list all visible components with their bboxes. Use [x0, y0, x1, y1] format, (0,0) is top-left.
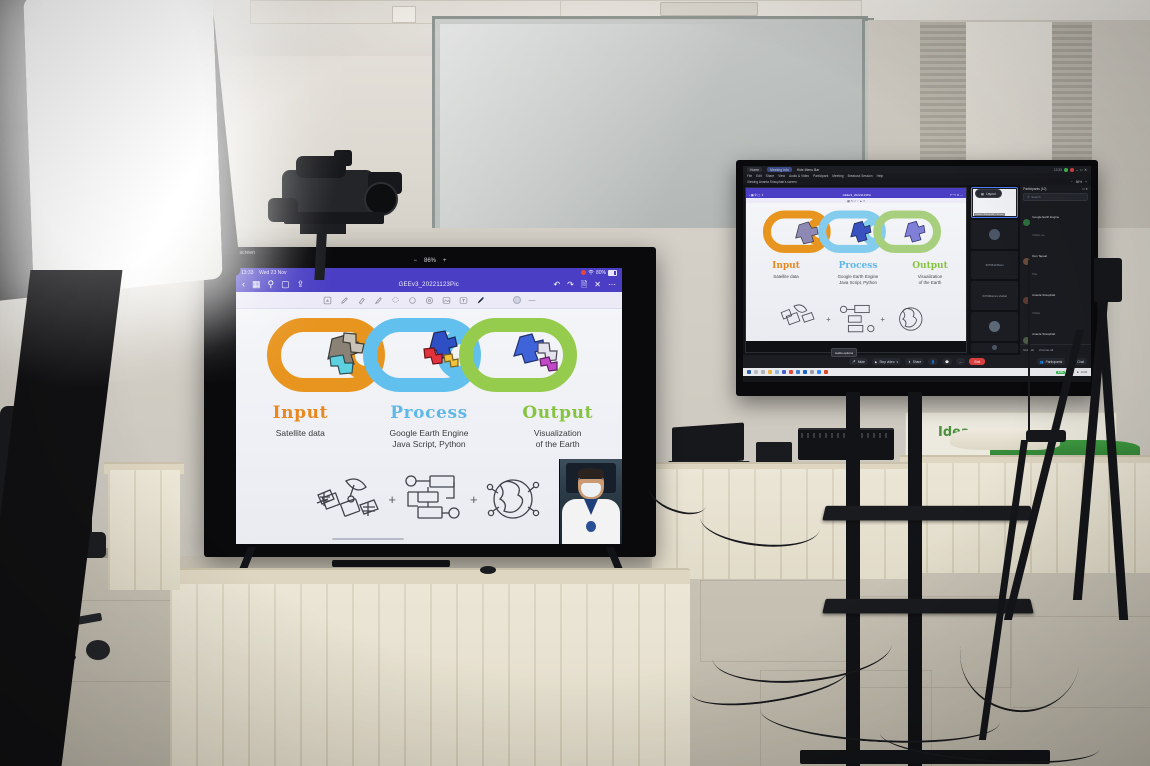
filmstrip-thumb-6[interactable]: [971, 343, 1018, 353]
redo-icon[interactable]: ↷: [567, 281, 574, 289]
slide-canvas: Input Satellite data Process Google Eart…: [236, 309, 622, 544]
presenter-hair: [578, 468, 604, 478]
zoom-title-bar: Home Meeting Info Hide Menu Bar 13:33 – …: [743, 166, 1091, 173]
chain-diagram: [248, 317, 610, 401]
filmstrip-label: 6370613 Boon: [986, 263, 1004, 267]
tripod-head: [1094, 258, 1122, 302]
cable: [1028, 260, 1056, 440]
puzzle-cluster-output: [514, 334, 557, 371]
scroll-indicator[interactable]: [332, 538, 404, 540]
room-scene: Idea Srisuphab's screen − 86% + 13:33 We…: [0, 0, 1150, 766]
document-title: GEEv3_20221123Pic: [399, 282, 459, 288]
share-zoom-out-icon[interactable]: −: [1071, 180, 1073, 184]
avatar-icon: [992, 345, 997, 350]
window-time: 13:33: [1054, 168, 1063, 172]
wifi-icon: [588, 270, 594, 275]
panel-controls-icon[interactable]: □ ✕: [1083, 187, 1088, 191]
camera-viewfinder: [334, 150, 352, 166]
bookmark-icon[interactable]: ▢: [281, 280, 290, 289]
camera-baseplate: [284, 212, 384, 224]
edge-icon[interactable]: [775, 370, 779, 374]
collapse-toolbar-icon[interactable]: —: [529, 297, 536, 304]
left-zoom-control[interactable]: − 86% +: [204, 255, 656, 267]
hide-menu-bar-button[interactable]: Hide Menu Bar: [797, 168, 820, 172]
laptop-lid: [672, 422, 744, 465]
more-icon[interactable]: ⋯: [608, 281, 616, 289]
grid-icon[interactable]: ▦: [252, 280, 261, 289]
mini-heading-input: Input: [750, 261, 822, 271]
teams-icon[interactable]: [782, 370, 786, 374]
mini-heading-process: Process: [822, 261, 894, 271]
avatar-icon: [989, 321, 1000, 332]
side-table-skirt: [108, 470, 180, 590]
menu-share[interactable]: Share: [766, 174, 775, 178]
column-heading: Process: [365, 405, 494, 422]
eraser-tool-icon[interactable]: [357, 296, 366, 305]
left-display-tv: Srisuphab's screen − 86% + 13:33 Wed 23 …: [204, 247, 656, 557]
column-body: Google Earth Engine Java Script, Python: [365, 428, 494, 451]
annotation-toolbar[interactable]: —: [236, 292, 622, 309]
filmstrip-label: Ananta Srisuphab's Screen: [974, 213, 1005, 216]
participant-row[interactable]: Google Earth Engine Cohost, me: [1022, 203, 1089, 242]
chair-caster: [86, 640, 110, 660]
soundbar: [332, 560, 450, 567]
store-icon[interactable]: [796, 370, 800, 374]
svg-text:+: +: [826, 315, 831, 324]
page-icon[interactable]: 🗎: [581, 281, 587, 289]
softbox-light-face: [23, 0, 222, 298]
video-filmstrip: Ananta Srisuphab's Screen 6370613 Boon 6…: [969, 185, 1020, 355]
filmstrip-label: 6370Marram Zeibal: [983, 294, 1007, 298]
column-heading: Output: [493, 405, 622, 422]
speaker: [756, 442, 792, 464]
back-icon[interactable]: ‹: [242, 280, 245, 289]
zoom-level: 86%: [424, 258, 436, 264]
search-icon[interactable]: ⚲: [268, 280, 275, 289]
mini-body-process: Google Earth Engine Java Script, Python: [822, 274, 894, 287]
stop-video-button[interactable]: ▶ Stop video ▾: [872, 358, 901, 365]
menu-breakout-session[interactable]: Breakout Session: [848, 174, 873, 178]
filmstrip-thumb-3[interactable]: 6370613 Boon: [971, 251, 1018, 280]
participants-title: Participants (10): [1023, 187, 1046, 191]
slide-column-process: Process Google Earth Engine Java Script,…: [365, 405, 494, 451]
column-heading: Input: [236, 405, 365, 422]
menu-edit[interactable]: Edit: [756, 174, 762, 178]
mini-body-output: Visualization of the Earth: [894, 274, 966, 287]
menu-file[interactable]: File: [747, 174, 752, 178]
exit-sign: [392, 6, 416, 23]
tab-meeting-info[interactable]: Meeting Info: [767, 167, 792, 172]
mini-tool-icons: ▦ ✎ □ ○ ▲ T: [847, 199, 865, 203]
chat-toggle-button[interactable]: 💬: [942, 358, 952, 365]
camera-tripod-plate: [300, 224, 346, 234]
microphone-icon: 🎤: [852, 360, 856, 364]
mini-icon-row: + +: [758, 303, 958, 335]
window-pane: [966, 22, 1052, 172]
presenter-video-pip: [559, 459, 622, 544]
windows-start-icon[interactable]: [747, 370, 751, 374]
menu-audio-video[interactable]: Audio & Video: [789, 174, 809, 178]
marker-tool-icon[interactable]: [476, 296, 485, 305]
text-tool-icon[interactable]: [459, 296, 468, 305]
close-icon[interactable]: ✕: [1084, 168, 1087, 172]
filmstrip-thumb-4[interactable]: 6370Marram Zeibal: [971, 281, 1018, 310]
camera-lens: [364, 182, 398, 216]
menu-participant[interactable]: Participant: [813, 174, 828, 178]
audio-options-tooltip: Audio options: [831, 348, 857, 357]
battery-icon: [608, 270, 617, 276]
slide-column-output: Output Visualization of the Earth: [493, 405, 622, 451]
layout-icon: ▦: [981, 192, 984, 196]
ipad-status-bar: 13:33 Wed 23 Nov 80%: [236, 268, 622, 277]
tab-home[interactable]: Home: [747, 167, 762, 172]
color-swatch-icon[interactable]: [513, 296, 521, 304]
column-body: Satellite data: [236, 428, 365, 439]
taskbar-clock[interactable]: 13:33: [1081, 371, 1088, 374]
pen-tool-icon[interactable]: [340, 296, 349, 305]
menu-meeting[interactable]: Meeting: [832, 174, 843, 178]
globe-icon: [484, 473, 542, 525]
mini-nav-right-icons: ↶ ↷ ✕ ⋯: [950, 193, 963, 197]
chrome-icon[interactable]: [789, 370, 793, 374]
ime-indicator[interactable]: ENG: [1056, 371, 1065, 374]
layout-button[interactable]: ▦ Layout: [975, 189, 1002, 198]
record-dot-icon: [1070, 168, 1074, 172]
end-meeting-button[interactable]: End: [969, 358, 985, 365]
explorer-icon[interactable]: [768, 370, 772, 374]
shirt-logo: [586, 521, 596, 532]
battery-level: 80%: [596, 270, 606, 276]
mini-body-input: Satellite data: [750, 274, 822, 279]
menu-help[interactable]: Help: [877, 174, 884, 178]
skype-icon[interactable]: [803, 370, 807, 374]
svg-text:+: +: [880, 315, 885, 324]
participants-search-input[interactable]: ⚲ Search: [1023, 193, 1088, 201]
search-icon[interactable]: [754, 370, 758, 374]
avatar: [1023, 219, 1030, 226]
app-icon[interactable]: [824, 370, 828, 374]
mini-nav-icons: ‹ ▦ ⚲ ▢ ⇪: [749, 193, 764, 197]
share-screen-icon: ⬆: [908, 360, 911, 364]
image-tool-icon[interactable]: [442, 296, 451, 305]
search-icon: ⚲: [1027, 195, 1029, 199]
chevron-down-icon[interactable]: ▾: [896, 360, 898, 364]
small-speaker: [480, 566, 496, 574]
avatar-icon: [989, 229, 1000, 240]
battery-icon[interactable]: ■: [1077, 371, 1079, 374]
participants-header: Participants (10) □ ✕: [1020, 185, 1091, 193]
maximize-icon[interactable]: □: [1080, 168, 1082, 172]
window-blinds: [920, 22, 966, 172]
mini-slide-canvas: Input Satellite data Process Google Eart…: [746, 203, 966, 341]
close-icon[interactable]: ✕: [594, 281, 601, 289]
satellite-icon: [316, 473, 382, 525]
air-vent: [660, 2, 758, 16]
monitor-stand-shelf-upper: [822, 506, 1033, 521]
share-button[interactable]: ⬆ Share: [905, 358, 924, 365]
zoom-icon[interactable]: [817, 370, 821, 374]
plus-separator-2: +: [470, 492, 478, 507]
mute-button[interactable]: 🎤 Mute: [849, 358, 868, 365]
flowchart-icon: [402, 473, 464, 525]
circle-tool-icon[interactable]: [425, 296, 434, 305]
zoom-in-icon[interactable]: +: [443, 258, 447, 264]
share-zoom-in-icon[interactable]: +: [1085, 180, 1087, 184]
ipad-nav-bar: ‹ ▦ ⚲ ▢ ⇪ GEEv3_20221123Pic ↶ ↷ 🗎 ✕ ⋯: [236, 277, 622, 292]
menu-view[interactable]: View: [778, 174, 785, 178]
shape-tool-icon[interactable]: [408, 296, 417, 305]
select-tool-icon[interactable]: [323, 296, 332, 305]
shared-screen-area: ‹ ▦ ⚲ ▢ ⇪ GEEv3_20221123Pic ↶ ↷ ✕ ⋯ ▦ ✎ …: [745, 187, 967, 353]
plus-separator-1: +: [388, 492, 396, 507]
minimize-icon[interactable]: –: [1076, 168, 1078, 172]
lasso-tool-icon[interactable]: [391, 296, 400, 305]
share-icon[interactable]: ⇪: [297, 280, 305, 289]
slide-columns: Input Satellite data Process Google Eart…: [236, 405, 622, 451]
filmstrip-thumb-5[interactable]: [971, 312, 1018, 341]
viewing-label: Viewing Ananta Srisuphab's screen: [747, 180, 797, 184]
highlighter-tool-icon[interactable]: [374, 296, 383, 305]
column-body: Visualization of the Earth: [493, 428, 622, 451]
record-indicator-icon: [581, 270, 586, 275]
camera-icon: ▶: [875, 360, 877, 364]
share-zoom-level: 86%: [1076, 180, 1082, 184]
status-date: Wed 23 Nov: [259, 270, 286, 276]
zoom-out-icon[interactable]: −: [413, 258, 417, 264]
undo-icon[interactable]: ↶: [553, 281, 560, 289]
filmstrip-thumb-2[interactable]: [971, 220, 1018, 249]
status-dot-icon: [1064, 168, 1068, 172]
taskview-icon[interactable]: [761, 370, 765, 374]
mini-heading-output: Output: [894, 261, 966, 271]
mini-slide-headings: Input Satellite data Process Google Eart…: [750, 261, 966, 287]
app-icon[interactable]: [810, 370, 814, 374]
slide-column-input: Input Satellite data: [236, 405, 365, 451]
mini-document-title: GEEv3_20221123Pic: [843, 193, 871, 197]
mini-chain-diagram: [752, 209, 960, 259]
more-options-button[interactable]: ⋯: [956, 358, 965, 365]
search-placeholder: Search: [1031, 195, 1040, 199]
left-tv-screen: 13:33 Wed 23 Nov 80% ‹ ▦ ⚲ ▢: [236, 268, 622, 544]
participants-toggle-button[interactable]: 👤: [928, 358, 938, 365]
front-table-skirt: [170, 584, 690, 766]
window-blinds: [1052, 22, 1092, 172]
status-time: 13:33: [241, 270, 254, 276]
